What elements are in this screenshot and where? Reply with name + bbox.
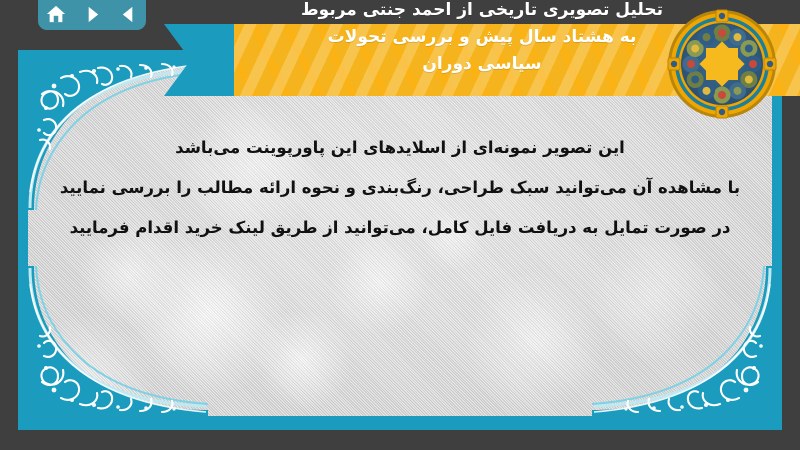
- slide-navigation-controls: [38, 0, 146, 30]
- slide-body-text: این تصویر نمونه‌ای از اسلایدهای این پاور…: [58, 128, 742, 248]
- home-icon: [46, 4, 66, 24]
- triangle-right-icon: [83, 5, 102, 24]
- body-line: این تصویر نمونه‌ای از اسلایدهای این پاور…: [58, 128, 742, 168]
- previous-slide-button[interactable]: [115, 2, 141, 26]
- next-slide-button[interactable]: [79, 2, 105, 26]
- body-line: با مشاهده آن می‌توانید سبک طراحی، رنگ‌بن…: [58, 168, 742, 208]
- triangle-left-icon: [119, 5, 138, 24]
- persian-mandala-medallion-icon: [666, 8, 778, 120]
- home-slide-button[interactable]: [43, 2, 69, 26]
- body-line: در صورت تمایل به دریافت فایل کامل، می‌تو…: [58, 208, 742, 248]
- presentation-slide: این تصویر نمونه‌ای از اسلایدهای این پاور…: [0, 0, 800, 450]
